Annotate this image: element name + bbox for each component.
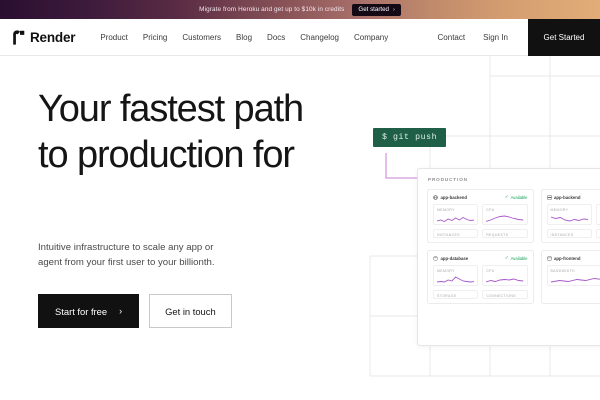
sparkline-chart (486, 274, 523, 285)
metric-label: MEMORY (437, 208, 474, 212)
check-icon: ✓ (505, 195, 509, 199)
metric-label: CPU (486, 269, 523, 273)
page-root: Migrate from Heroku and get up to $10k i… (0, 0, 600, 400)
chevron-right-icon: › (393, 7, 395, 13)
service-card-header: app-backend ✓ Available (433, 195, 528, 200)
status-label: Available (511, 256, 528, 261)
service-card[interactable]: app-backend MEMORY (541, 189, 600, 243)
service-identity: app-database (433, 256, 468, 261)
nav-item-pricing[interactable]: Pricing (143, 33, 167, 42)
nav-item-product[interactable]: Product (100, 33, 128, 42)
sparkline-chart (486, 213, 523, 224)
server-icon (547, 195, 552, 200)
nav-item-company[interactable]: Company (354, 33, 388, 42)
metric-label: INSTANCES (551, 233, 588, 237)
globe-icon (433, 195, 438, 200)
service-identity: app-frontend (547, 256, 581, 261)
service-card[interactable]: app-database ✓ Available MEMORY (427, 250, 534, 304)
metric-tile: MEMORY (433, 265, 478, 286)
submetric-row: STORAGE CONNECTIONS (433, 290, 528, 299)
metric-tile: BANDWIDTH (547, 265, 600, 286)
dashboard-panel: PRODUCTION app-backend (417, 168, 600, 346)
hero-illustration: $ git push PRODUCTION app-backend (360, 56, 600, 400)
metric-label: REQUESTS (486, 233, 523, 237)
nav-item-changelog[interactable]: Changelog (300, 33, 339, 42)
metric-label: CONNECTIONS (486, 294, 523, 298)
promo-banner: Migrate from Heroku and get up to $10k i… (0, 0, 600, 19)
metric-tile: CPU (596, 204, 600, 225)
metric-label: STORAGE (437, 294, 474, 298)
metric-tile: CPU (482, 204, 527, 225)
metric-tile: MEMORY (433, 204, 478, 225)
metric-row: MEMORY CPU (433, 204, 528, 225)
promo-get-started-label: Get started (358, 6, 389, 13)
hero-subtitle: Intuitive infrastructure to scale any ap… (38, 240, 253, 270)
header-actions: Contact Sign In Get Started (438, 19, 600, 55)
service-name: app-backend (554, 195, 581, 200)
nav-item-blog[interactable]: Blog (236, 33, 252, 42)
service-card-header: app-database ✓ Available (433, 256, 528, 261)
metric-tile: STORAGE (433, 290, 478, 299)
promo-banner-text: Migrate from Heroku and get up to $10k i… (199, 6, 344, 13)
service-card-grid: app-backend ✓ Available MEMORY (418, 182, 600, 304)
metric-tile: REQUESTS (482, 229, 527, 238)
promo-get-started-button[interactable]: Get started › (352, 4, 400, 16)
metric-label: MEMORY (551, 208, 588, 212)
header-get-started-button[interactable]: Get Started (528, 19, 600, 56)
sparkline-chart (437, 274, 474, 285)
metric-tile: MEMORY (547, 204, 592, 225)
metric-tile: CONNECTIONS (482, 290, 527, 299)
sparkline-chart (551, 213, 588, 224)
nav-item-docs[interactable]: Docs (267, 33, 285, 42)
sparkline-chart (551, 274, 600, 285)
service-card-header: app-backend (547, 195, 600, 200)
database-icon (433, 256, 438, 261)
hero-cta-row: Start for free › Get in touch (38, 294, 348, 328)
start-for-free-button[interactable]: Start for free › (38, 294, 139, 328)
sparkline-chart (437, 213, 474, 224)
service-name: app-backend (441, 195, 468, 200)
status-label: Available (511, 195, 528, 200)
service-name: app-database (441, 256, 469, 261)
sign-in-link[interactable]: Sign In (483, 33, 508, 42)
metric-tile: INSTANCES (547, 229, 592, 238)
service-identity: app-backend (433, 195, 467, 200)
service-card-header: app-frontend (547, 256, 600, 261)
metric-label: INSTANCES (437, 233, 474, 237)
brand-logo[interactable]: Render (12, 30, 75, 45)
git-push-badge[interactable]: $ git push (373, 128, 446, 147)
metric-label: BANDWIDTH (551, 269, 600, 273)
primary-nav: Product Pricing Customers Blog Docs Chan… (100, 33, 388, 42)
render-logo-icon (12, 30, 25, 45)
site-header: Render Product Pricing Customers Blog Do… (0, 19, 600, 56)
metric-row: BANDWIDTH (547, 265, 600, 286)
service-identity: app-backend (547, 195, 581, 200)
contact-link[interactable]: Contact (438, 33, 466, 42)
metric-label: CPU (486, 208, 523, 212)
get-in-touch-button[interactable]: Get in touch (149, 294, 232, 328)
metric-tile: CPU (482, 265, 527, 286)
submetric-row: INSTANCES REQUESTS (433, 229, 528, 238)
service-card[interactable]: app-backend ✓ Available MEMORY (427, 189, 534, 243)
service-card[interactable]: app-frontend BANDWIDTH (541, 250, 600, 304)
hero-section: Your fastest path to production for Intu… (38, 86, 348, 328)
status-badge: ✓ Available (505, 256, 528, 261)
metric-label: MEMORY (437, 269, 474, 273)
page-title: Your fastest path to production for (38, 86, 348, 178)
nav-item-customers[interactable]: Customers (182, 33, 221, 42)
status-badge: ✓ Available (505, 195, 528, 200)
chevron-right-icon: › (119, 306, 122, 316)
metric-tile: INSTANCES (433, 229, 478, 238)
metric-row: MEMORY CPU (547, 204, 600, 225)
window-icon (547, 256, 552, 261)
metric-tile: REQUESTS (596, 229, 600, 238)
brand-name: Render (30, 30, 75, 45)
metric-row: MEMORY CPU (433, 265, 528, 286)
start-for-free-label: Start for free (55, 306, 107, 317)
service-name: app-frontend (554, 256, 581, 261)
check-icon: ✓ (505, 256, 509, 260)
submetric-row: INSTANCES REQUESTS (547, 229, 600, 238)
